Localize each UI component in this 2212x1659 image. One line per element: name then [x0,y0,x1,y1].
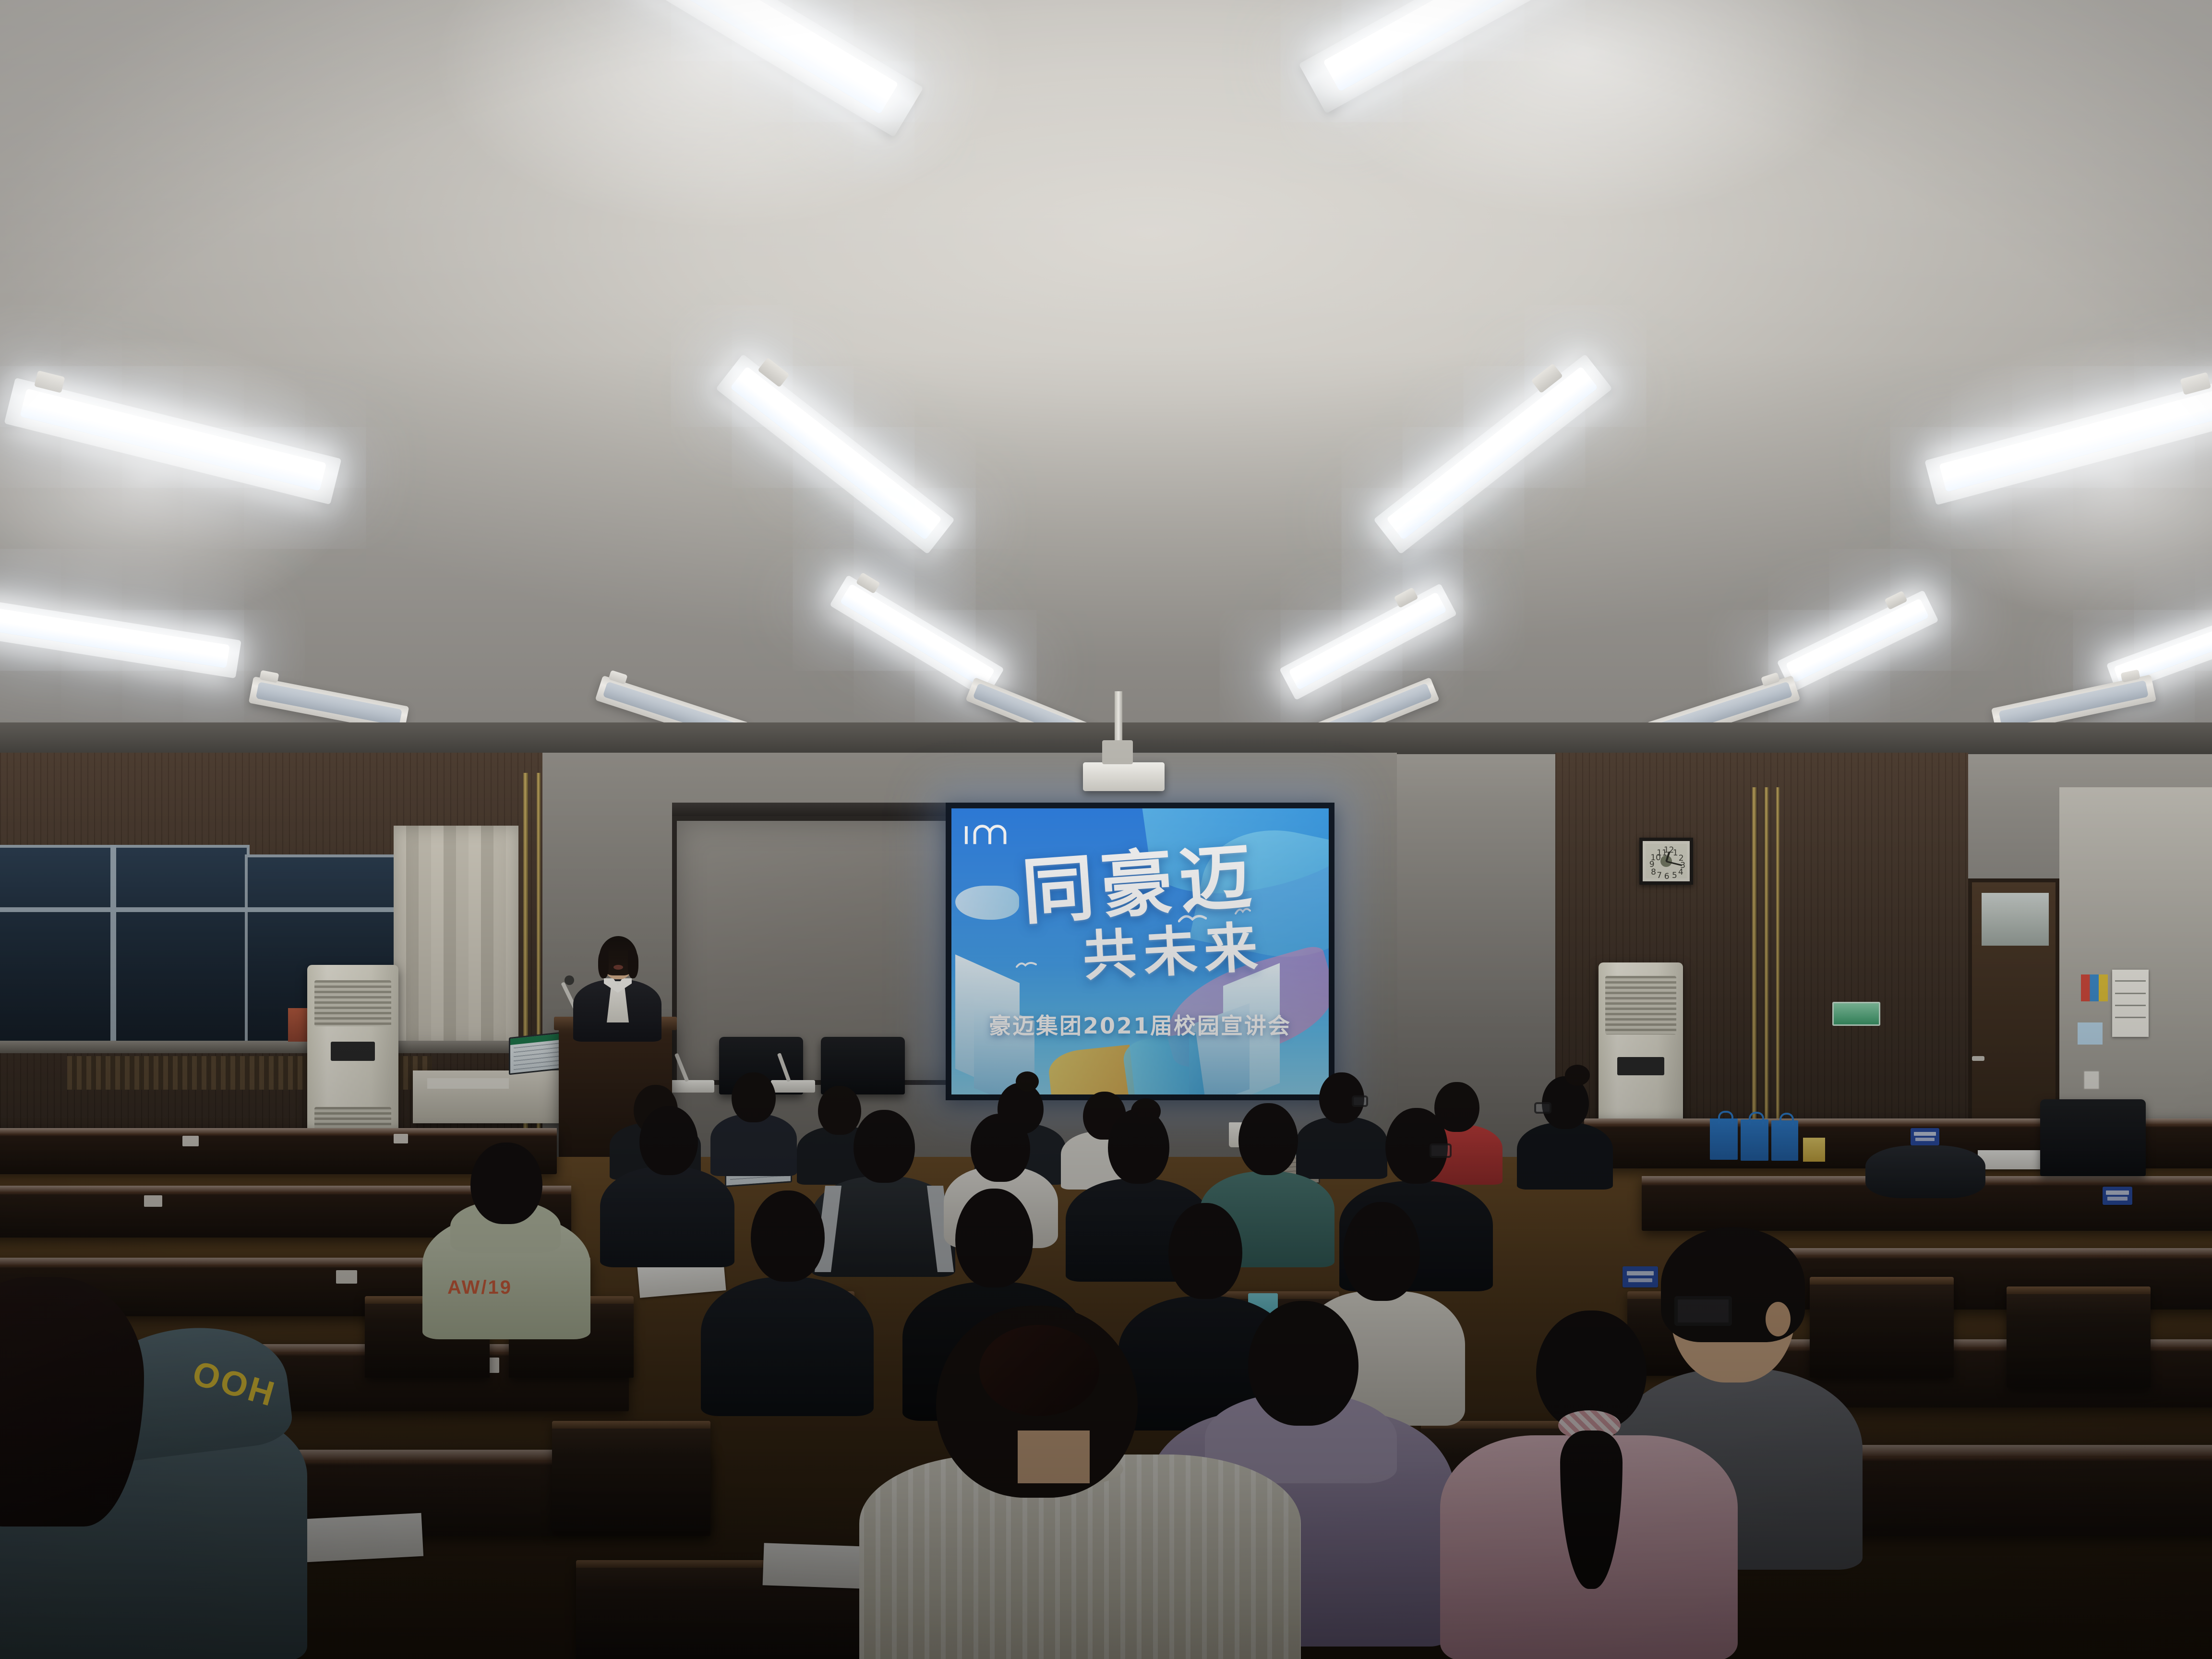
projection-screen: 同豪迈 共未来 豪迈集团2021届校园宣讲会 [946,803,1334,1100]
clock-numeral: 7 [1657,871,1662,880]
window-mullion [0,907,403,912]
slide-headline-line1: 同豪迈 [951,835,1329,933]
gold-trim-right [1776,787,1779,1176]
seat-number-tag [1911,1128,1939,1145]
slide-content: 同豪迈 共未来 豪迈集团2021届校园宣讲会 [951,808,1329,1094]
projector-mount-pole [1115,691,1122,744]
wall-poster [2112,970,2149,1037]
hair-bun [979,1325,1099,1416]
gold-trim-right [1765,787,1768,1176]
desk-sticker [144,1195,162,1207]
student-head [0,1277,144,1527]
hair-bun [1565,1065,1590,1086]
student-glasses-back [1517,1066,1613,1186]
student-head [1168,1203,1242,1299]
presenter-hair [598,950,609,978]
desk-papers [427,1078,509,1089]
jacket-back-text: AW/19 [447,1277,512,1298]
slide-headline: 同豪迈 共未来 [951,848,1329,981]
student-head [470,1142,542,1224]
student-neck [1018,1431,1090,1483]
blue-tote-bag [1771,1120,1798,1161]
student-head [732,1072,776,1122]
presenter-mouth [613,965,623,970]
window [0,845,250,1046]
wall-notice-blue [2078,1022,2103,1045]
student-ear [1766,1302,1791,1336]
clock-numeral: 6 [1664,872,1670,881]
presenter-hair [628,950,638,978]
window-sill [0,1041,523,1053]
hair-bun [1131,1098,1161,1124]
desk-sticker [336,1270,357,1284]
slide-subtitle: 豪迈集团2021届校园宣讲会 [951,1009,1329,1040]
student-teal-hoodie: OOH ad [0,1238,336,1659]
student-head [1238,1103,1298,1175]
hair-bun [1016,1071,1039,1092]
desk-sticker [182,1136,199,1146]
presenter [569,926,665,1031]
projector-bracket [1102,740,1133,764]
clock-numeral: 4 [1678,867,1683,877]
student-torso [701,1277,874,1416]
office-chair-right [2040,1099,2146,1176]
clock-face: 12 1 2 3 4 5 6 7 8 9 10 11 [1646,844,1687,878]
student-pink-hoodie [1440,1306,1738,1659]
clock-numeral: 1 [1673,848,1678,858]
window-curtain [394,826,518,1046]
glasses-icon [1430,1143,1452,1158]
student-head [854,1110,915,1183]
lecture-hall-photo: 12 1 2 3 4 5 6 7 8 9 10 11 [0,0,2212,1659]
window-mullion [110,845,116,1046]
bench-chair-back [552,1421,710,1531]
student-head [971,1114,1030,1182]
draped-jacket [1865,1145,1985,1198]
bench-chair-back [2007,1286,2151,1387]
seat-number-tag [2103,1187,2132,1205]
student-head [1343,1202,1420,1301]
glasses-icon [1534,1102,1551,1114]
student-torso [1517,1122,1613,1190]
student-head [639,1106,698,1175]
door-handle [1972,1056,1984,1061]
student-dark-jacket [701,1186,874,1411]
student-head [955,1189,1033,1287]
student-sage-jacket: AW/19 [422,1133,590,1334]
clock-numeral: 5 [1672,871,1677,880]
blue-tote-bag [1710,1118,1738,1160]
yellow-box [1803,1138,1825,1162]
teacher-laptop [509,1032,566,1075]
blue-tote-bag [1741,1119,1768,1161]
ceiling-projector [1083,762,1165,791]
light-switch [2083,1070,2100,1090]
student-cream-sweater [859,1296,1301,1659]
wall-poster-colored [2081,974,2108,1001]
exit-sign [1832,1002,1880,1026]
haomai-wave-logo [963,818,1020,850]
ceiling [0,0,2212,778]
desk-sticker [394,1134,408,1143]
door-transom-window [1982,893,2049,946]
student-head [751,1190,825,1282]
wall-clock: 12 1 2 3 4 5 6 7 8 9 10 11 [1639,838,1693,885]
